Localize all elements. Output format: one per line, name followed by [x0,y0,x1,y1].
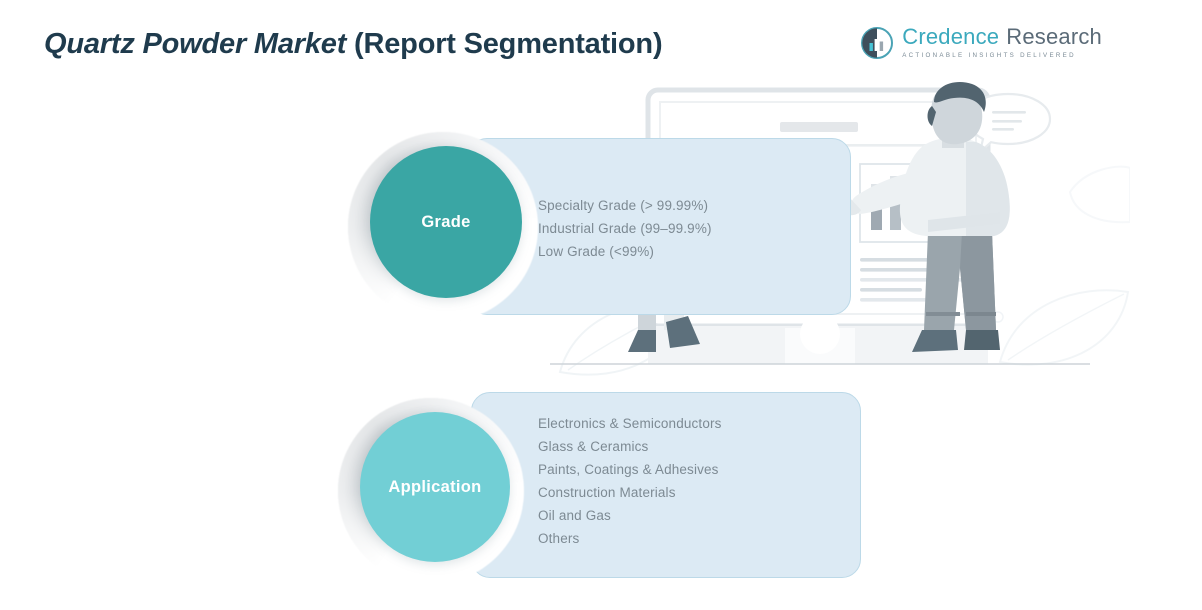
segment-grade-circle[interactable]: Grade [348,132,538,322]
circle-body: Application [360,412,510,562]
list-item: Electronics & Semiconductors [538,412,722,435]
list-item: Glass & Ceramics [538,435,722,458]
circle-body: Grade [370,146,522,298]
list-item: Low Grade (<99%) [538,240,712,263]
bar-chart-circle-icon [861,27,893,59]
segment-application: Electronics & Semiconductors Glass & Cer… [338,392,878,582]
logo-tagline: Actionable Insights Delivered [902,52,1102,59]
list-item: Construction Materials [538,481,722,504]
page-title: Quartz Powder Market (Report Segmentatio… [44,24,662,64]
segment-grade: Specialty Grade (> 99.99%) Industrial Gr… [348,132,868,332]
logo-brand-secondary: Research [1006,26,1102,48]
logo-brand-primary: Credence [902,26,999,48]
page-title-subtitle: (Report Segmentation) [354,28,662,60]
segment-grade-item-list: Specialty Grade (> 99.99%) Industrial Gr… [538,194,712,263]
brand-logo[interactable]: Credence Research Actionable Insights De… [861,26,1102,59]
segmentation-infographic: Quartz Powder Market (Report Segmentatio… [0,0,1202,610]
list-item: Others [538,527,722,550]
segment-application-item-list: Electronics & Semiconductors Glass & Cer… [538,412,722,550]
page-title-market: Quartz Powder Market [44,28,354,60]
list-item: Specialty Grade (> 99.99%) [538,194,712,217]
logo-text: Credence Research Actionable Insights De… [902,26,1102,59]
segment-application-label: Application [388,478,481,497]
segment-grade-label: Grade [421,213,470,232]
segment-application-circle[interactable]: Application [338,398,524,584]
list-item: Oil and Gas [538,504,722,527]
list-item: Paints, Coatings & Adhesives [538,458,722,481]
list-item: Industrial Grade (99–99.9%) [538,217,712,240]
